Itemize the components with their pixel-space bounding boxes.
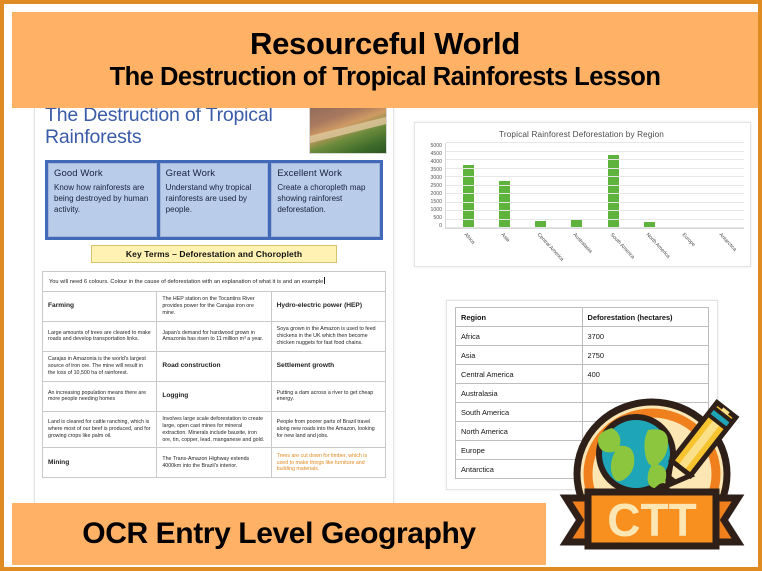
y-tick-label: 5000 [430, 143, 442, 149]
chart-bar-series [446, 143, 744, 228]
chart-bar [499, 181, 510, 228]
grid-cell: The HEP station on the Tocantins River p… [157, 291, 271, 321]
chart-gridline [446, 168, 744, 169]
chart-bar [608, 155, 619, 228]
chart-gridline [446, 176, 744, 177]
y-tick-label: 3000 [430, 175, 442, 181]
table-row: Carajas in Amazonia is the world's large… [43, 351, 386, 381]
y-tick-label: 2000 [430, 191, 442, 197]
table-header-row: Region Deforestation (hectares) [456, 308, 709, 327]
objective-text: Create a choropleth map showing rainfore… [277, 183, 374, 215]
objective-excellent-work: Excellent Work Create a choropleth map s… [271, 163, 380, 237]
chart-page-preview[interactable]: Tropical Rainforest Deforestation by Reg… [414, 122, 751, 267]
cell-deforestation-value: 2750 [582, 346, 709, 365]
grid-cell: Land is cleared for cattle ranching, whi… [43, 411, 157, 448]
cell-region: Asia [456, 346, 583, 365]
footer-banner: OCR Entry Level Geography [12, 503, 546, 565]
globe-icon [596, 414, 676, 494]
learning-objectives-group: Good Work Know how rainforests are being… [45, 160, 383, 240]
objective-level-label: Excellent Work [277, 168, 374, 179]
table-row: Mining The Trans-Amazon Highway extends … [43, 448, 386, 478]
objective-great-work: Great Work Understand why tropical rainf… [160, 163, 269, 237]
chart-x-tick-label: Europe [681, 232, 697, 248]
chart-gridline [446, 185, 744, 186]
rainforest-deforestation-photo [309, 104, 387, 154]
table-row: An increasing population means there are… [43, 381, 386, 411]
chart-gridline [446, 142, 744, 143]
grid-body: Farming The HEP station on the Tocantins… [43, 291, 386, 478]
ctt-brand-logo: CTT [552, 394, 752, 564]
chart-y-axis: 5000 4500 4000 3500 3000 2500 2000 1500 … [419, 143, 445, 229]
deforestation-causes-grid: Farming The HEP station on the Tocantins… [42, 291, 386, 479]
chart-x-tick: Antarctica [704, 229, 740, 267]
grid-cell: Putting a dam across a river to get chea… [271, 381, 385, 411]
grid-cell: Logging [157, 381, 271, 411]
grid-cell: Carajas in Amazonia is the world's large… [43, 351, 157, 381]
ctt-logo-text: CTT [607, 494, 696, 546]
chart-bar-slot [450, 143, 486, 228]
header-banner: Resourceful World The Destruction of Tro… [12, 12, 758, 108]
data-table-head: Region Deforestation (hectares) [456, 308, 709, 327]
objective-good-work: Good Work Know how rainforests are being… [48, 163, 157, 237]
table-row: Farming The HEP station on the Tocantins… [43, 291, 386, 321]
chart-x-tick: Australasia [558, 229, 594, 267]
worksheet-instruction: You will need 6 colours. Colour in the c… [42, 271, 386, 291]
grid-cell: Trees are cut down for timber, which is … [271, 448, 385, 478]
subject-label: OCR Entry Level Geography [82, 517, 475, 551]
y-tick-label: 4000 [430, 159, 442, 165]
chart-x-tick-label: Africa [463, 232, 476, 246]
chart-bar-slot [559, 143, 595, 228]
table-row: Central America400 [456, 365, 709, 384]
objective-level-label: Great Work [166, 168, 263, 179]
cell-region: Africa [456, 327, 583, 346]
column-header-deforestation: Deforestation (hectares) [582, 308, 709, 327]
grid-cell: Large amounts of trees are cleared to ma… [43, 321, 157, 351]
chart-x-tick: Europe [667, 229, 703, 267]
y-tick-label: 4500 [430, 151, 442, 157]
chart-bar-slot [631, 143, 667, 228]
cell-region: Central America [456, 365, 583, 384]
chart-bar-slot [704, 143, 740, 228]
grid-cell: Hydro-electric power (HEP) [271, 291, 385, 321]
y-tick-label: 3500 [430, 167, 442, 173]
chart-gridline [446, 210, 744, 211]
chart-title: Tropical Rainforest Deforestation by Reg… [419, 130, 744, 139]
y-tick-label: 1000 [430, 207, 442, 213]
chart-x-tick: North America [631, 229, 667, 267]
grid-cell: Farming [43, 291, 157, 321]
grid-cell: People from poorer parts of Brazil trave… [271, 411, 385, 448]
resource-subtitle: The Destruction of Tropical Rainforests … [110, 63, 661, 92]
table-row: Large amounts of trees are cleared to ma… [43, 321, 386, 351]
worksheet-page-preview[interactable]: The Destruction of Tropical Rainforests … [34, 90, 394, 545]
grid-cell: Involves large scale deforestation to cr… [157, 411, 271, 448]
text-caret [324, 277, 325, 284]
chart-x-axis: AfricaAsiaCentral AmericaAustralasiaSout… [445, 229, 744, 267]
y-tick-label: 2500 [430, 183, 442, 189]
chart-bar-slot [668, 143, 704, 228]
worksheet-title-row: The Destruction of Tropical Rainforests [39, 102, 389, 154]
grid-cell: Mining [43, 448, 157, 478]
chart-x-tick: South America [595, 229, 631, 267]
instruction-text: You will need 6 colours. Colour in the c… [49, 279, 323, 285]
ctt-ribbon: CTT [566, 492, 738, 546]
y-tick-label: 500 [433, 215, 442, 221]
chart-x-tick-label: Australasia [572, 232, 594, 255]
objective-text: Understand why tropical rainforests are … [166, 183, 263, 215]
grid-cell: The Trans-Amazon Highway extends 4000km … [157, 448, 271, 478]
chart-x-tick: Africa [449, 229, 485, 267]
chart-gridline [446, 193, 744, 194]
objective-text: Know how rainforests are being destroyed… [54, 183, 151, 215]
table-row: Land is cleared for cattle ranching, whi… [43, 411, 386, 448]
chart-bar-slot [595, 143, 631, 228]
chart-x-tick: Central America [522, 229, 558, 267]
chart-plot-area: 5000 4500 4000 3500 3000 2500 2000 1500 … [419, 143, 744, 229]
grid-cell: An increasing population means there are… [43, 381, 157, 411]
chart-x-tick-label: Asia [499, 232, 510, 243]
grid-cell: Settlement growth [271, 351, 385, 381]
objective-level-label: Good Work [54, 168, 151, 179]
y-tick-label: 1500 [430, 199, 442, 205]
table-row: Africa3700 [456, 327, 709, 346]
chart-gridline [446, 202, 744, 203]
y-tick-label: 0 [439, 223, 442, 229]
cell-deforestation-value: 400 [582, 365, 709, 384]
chart-x-tick: Asia [485, 229, 521, 267]
chart-gridline [446, 227, 744, 228]
table-row: Asia2750 [456, 346, 709, 365]
resource-title: Resourceful World [250, 28, 520, 61]
grid-cell: Road construction [157, 351, 271, 381]
chart-x-tick-label: Antarctica [717, 232, 737, 253]
chart-bar-slot [523, 143, 559, 228]
cell-deforestation-value: 3700 [582, 327, 709, 346]
chart-bars-region [445, 143, 744, 229]
resource-preview-poster: The Destruction of Tropical Rainforests … [0, 0, 762, 571]
column-header-region: Region [456, 308, 583, 327]
chart-gridline [446, 219, 744, 220]
spacer [39, 263, 389, 271]
chart-gridline [446, 159, 744, 160]
grid-cell: Japan's demand for hardwood grown in Ama… [157, 321, 271, 351]
key-terms-banner: Key Terms – Deforestation and Choropleth [91, 245, 337, 263]
chart-bar-slot [486, 143, 522, 228]
grid-cell: Soya grown in the Amazon is used to feed… [271, 321, 385, 351]
chart-gridline [446, 151, 744, 152]
